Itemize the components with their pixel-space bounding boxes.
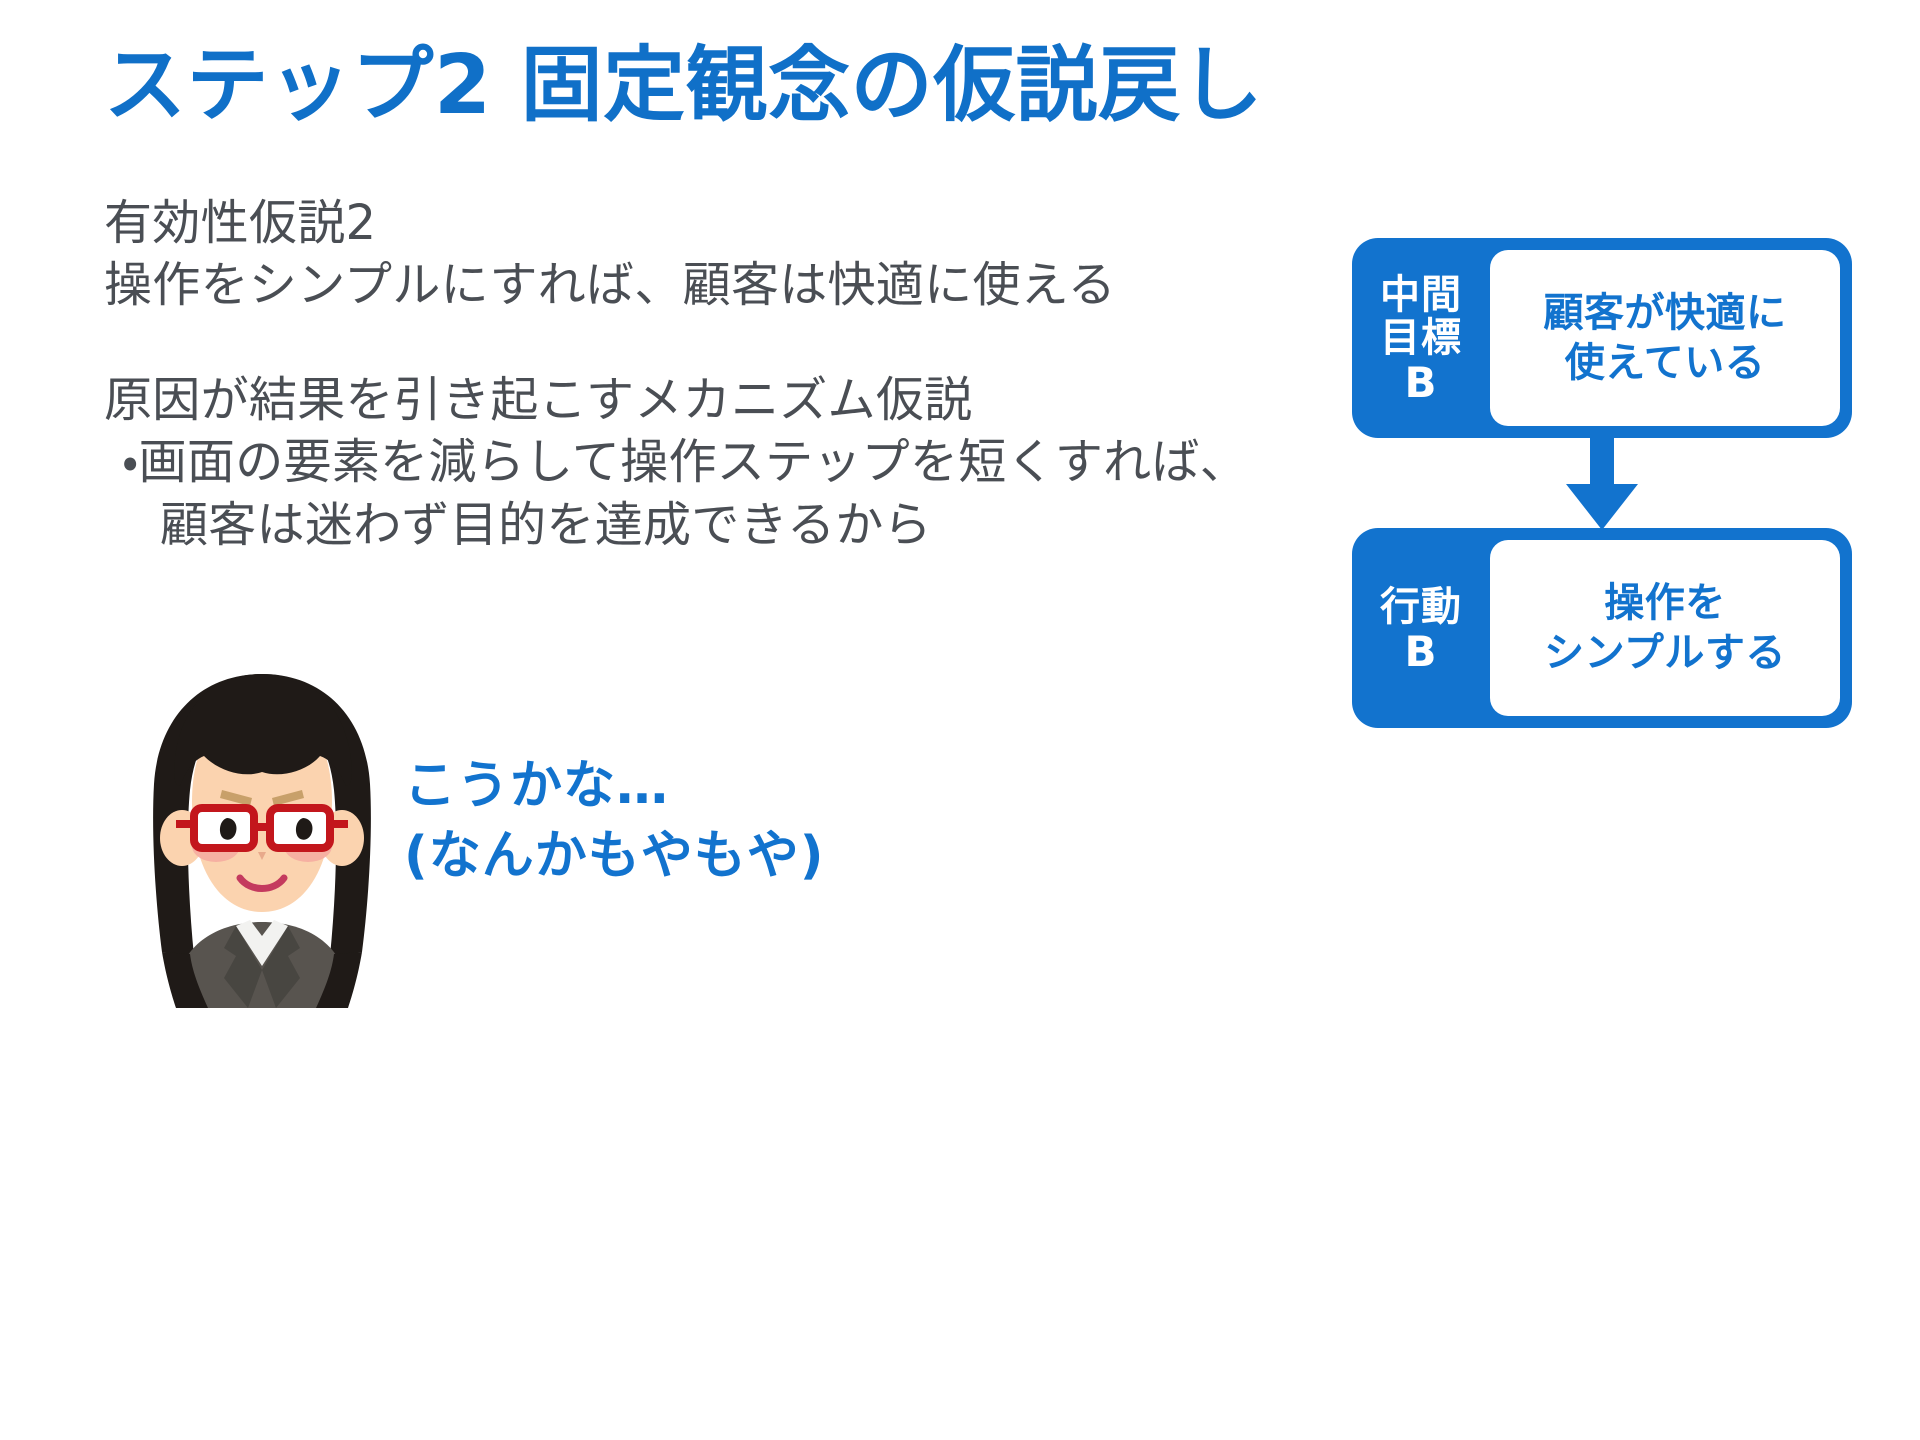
node-label-line-1: 行動 [1380, 586, 1462, 628]
diagram-node-intermediate-goal-b[interactable]: 中間 目標 B 顧客が快適に 使えている [1352, 238, 1852, 438]
woman-with-red-glasses-illustration [124, 660, 400, 1008]
text-spacer [104, 317, 1284, 369]
node-body-line-1: 操作を [1604, 578, 1726, 628]
glasses-temple-left [176, 820, 196, 828]
page-title: ステップ2 固定観念の仮説戻し [104, 42, 1263, 131]
node-body-action: 操作を シンプルする [1490, 540, 1840, 716]
node-body-line-1: 顧客が快適に [1544, 288, 1787, 338]
node-label-intermediate-goal: 中間 目標 B [1352, 238, 1490, 438]
body-text-block: 有効性仮説2 操作をシンプルにすれば、顧客は快適に使える 原因が結果を引き起こす… [104, 192, 1284, 556]
node-label-key: B [1404, 630, 1437, 675]
speech-text: こうかな… (なんかもやもや) [404, 752, 825, 891]
node-label-line-1: 中間 [1380, 274, 1462, 316]
slide-canvas: ステップ2 固定観念の仮説戻し 有効性仮説2 操作をシンプルにすれば、顧客は快適… [0, 0, 1920, 1440]
node-body-line-2: 使えている [1565, 338, 1766, 388]
mechanism-bullet-line-2: 顧客は迷わず目的を達成できるから [104, 494, 1284, 556]
node-label-line-2: 目標 [1380, 317, 1462, 359]
mechanism-bullet-line-1: ・画面の要素を減らして操作ステップを短くすれば、 [104, 431, 1284, 493]
mechanism-heading: 原因が結果を引き起こすメカニズム仮説 [104, 369, 1284, 431]
glasses-bridge [252, 823, 272, 831]
speech-line-2: (なんかもやもや) [404, 822, 825, 892]
diagram-node-action-b[interactable]: 行動 B 操作を シンプルする [1352, 528, 1852, 728]
speech-line-1: こうかな… [404, 752, 825, 822]
node-body-intermediate-goal: 顧客が快適に 使えている [1490, 250, 1840, 426]
hypothesis-flow-diagram: 中間 目標 B 顧客が快適に 使えている 行動 B 操作を シンプルする [1352, 238, 1852, 728]
node-label-action: 行動 B [1352, 528, 1490, 728]
down-arrow-icon [1564, 438, 1640, 530]
hypothesis-heading: 有効性仮説2 [104, 192, 1284, 254]
hypothesis-statement: 操作をシンプルにすれば、顧客は快適に使える [104, 254, 1284, 316]
node-body-line-2: シンプルする [1544, 628, 1786, 678]
node-label-key: B [1404, 361, 1437, 406]
glasses-temple-right [328, 820, 348, 828]
